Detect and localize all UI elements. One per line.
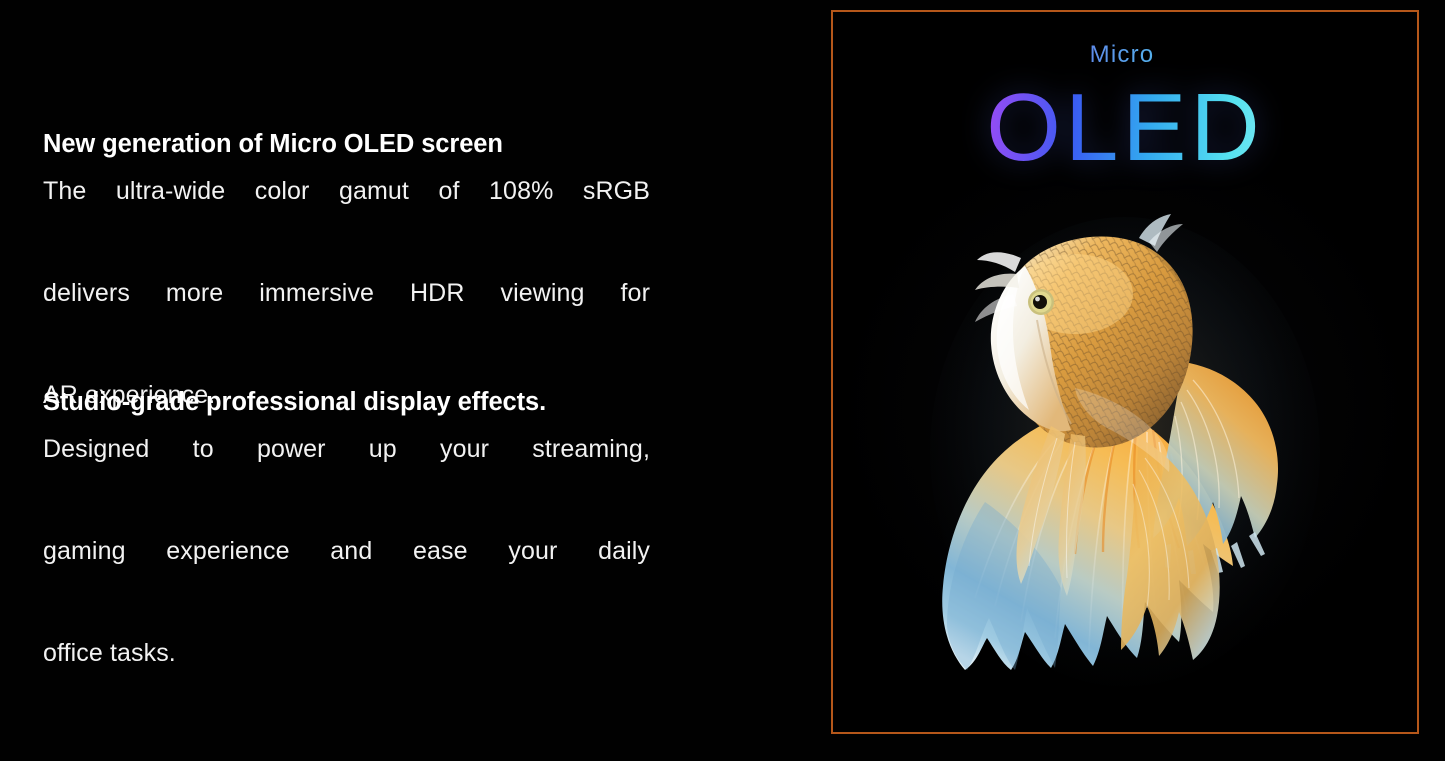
- copy-block-2: Studio-grade professional display effect…: [43, 380, 650, 679]
- fish-eye: [1028, 289, 1054, 315]
- betta-fish-image: [925, 202, 1325, 692]
- slide-root: New generation of Micro OLED screen The …: [0, 0, 1445, 761]
- product-image-frame: Micro OLED: [831, 10, 1419, 734]
- copy-panel: New generation of Micro OLED screen The …: [43, 0, 653, 761]
- body-line: office tasks.: [43, 628, 650, 679]
- body-line: delivers more immersive HDR viewing for: [43, 268, 650, 370]
- copy-block-1: New generation of Micro OLED screen The …: [43, 122, 650, 421]
- body-line: Designed to power up your streaming,: [43, 424, 650, 526]
- headline-1: New generation of Micro OLED screen: [43, 122, 650, 166]
- headline-2: Studio-grade professional display effect…: [43, 380, 650, 424]
- body-line: gaming experience and ease your daily: [43, 526, 650, 628]
- body-copy-2: Designed to power up your streaming, gam…: [43, 424, 650, 679]
- body-line: The ultra-wide color gamut of 108% sRGB: [43, 166, 650, 268]
